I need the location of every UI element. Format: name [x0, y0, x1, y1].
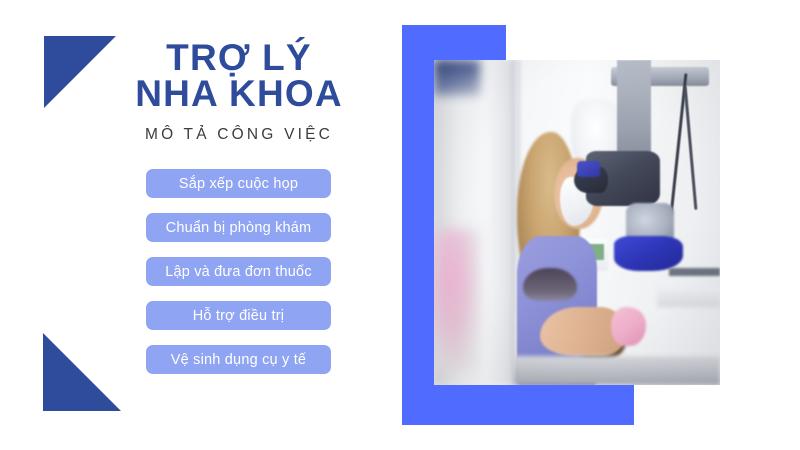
list-item[interactable]: Chuẩn bị phòng khám [146, 213, 331, 242]
blue-backdrop-foot-shape [402, 385, 634, 425]
page-subtitle: MÔ TẢ CÔNG VIỆC [128, 126, 350, 144]
photo-composition [402, 25, 720, 425]
triangle-top-left-icon [44, 36, 116, 108]
slide-canvas: TRỢ LÝ NHA KHOA MÔ TẢ CÔNG VIỆC Sắp xếp … [0, 0, 800, 450]
dentist-photo [434, 60, 720, 385]
list-item[interactable]: Vệ sinh dụng cụ y tế [146, 345, 331, 374]
list-item[interactable]: Lập và đưa đơn thuốc [146, 257, 331, 286]
triangle-bottom-left-icon [43, 333, 121, 411]
title-line-2: NHA KHOA [128, 76, 350, 112]
list-item[interactable]: Sắp xếp cuộc họp [146, 169, 331, 198]
title-line-1: TRỢ LÝ [128, 40, 350, 76]
title-column: TRỢ LÝ NHA KHOA MÔ TẢ CÔNG VIỆC [128, 40, 350, 144]
list-item[interactable]: Hỗ trợ điều trị [146, 301, 331, 330]
task-list: Sắp xếp cuộc họp Chuẩn bị phòng khám Lập… [146, 169, 331, 374]
page-title: TRỢ LÝ NHA KHOA [128, 40, 350, 113]
photo-vignette [434, 60, 720, 385]
